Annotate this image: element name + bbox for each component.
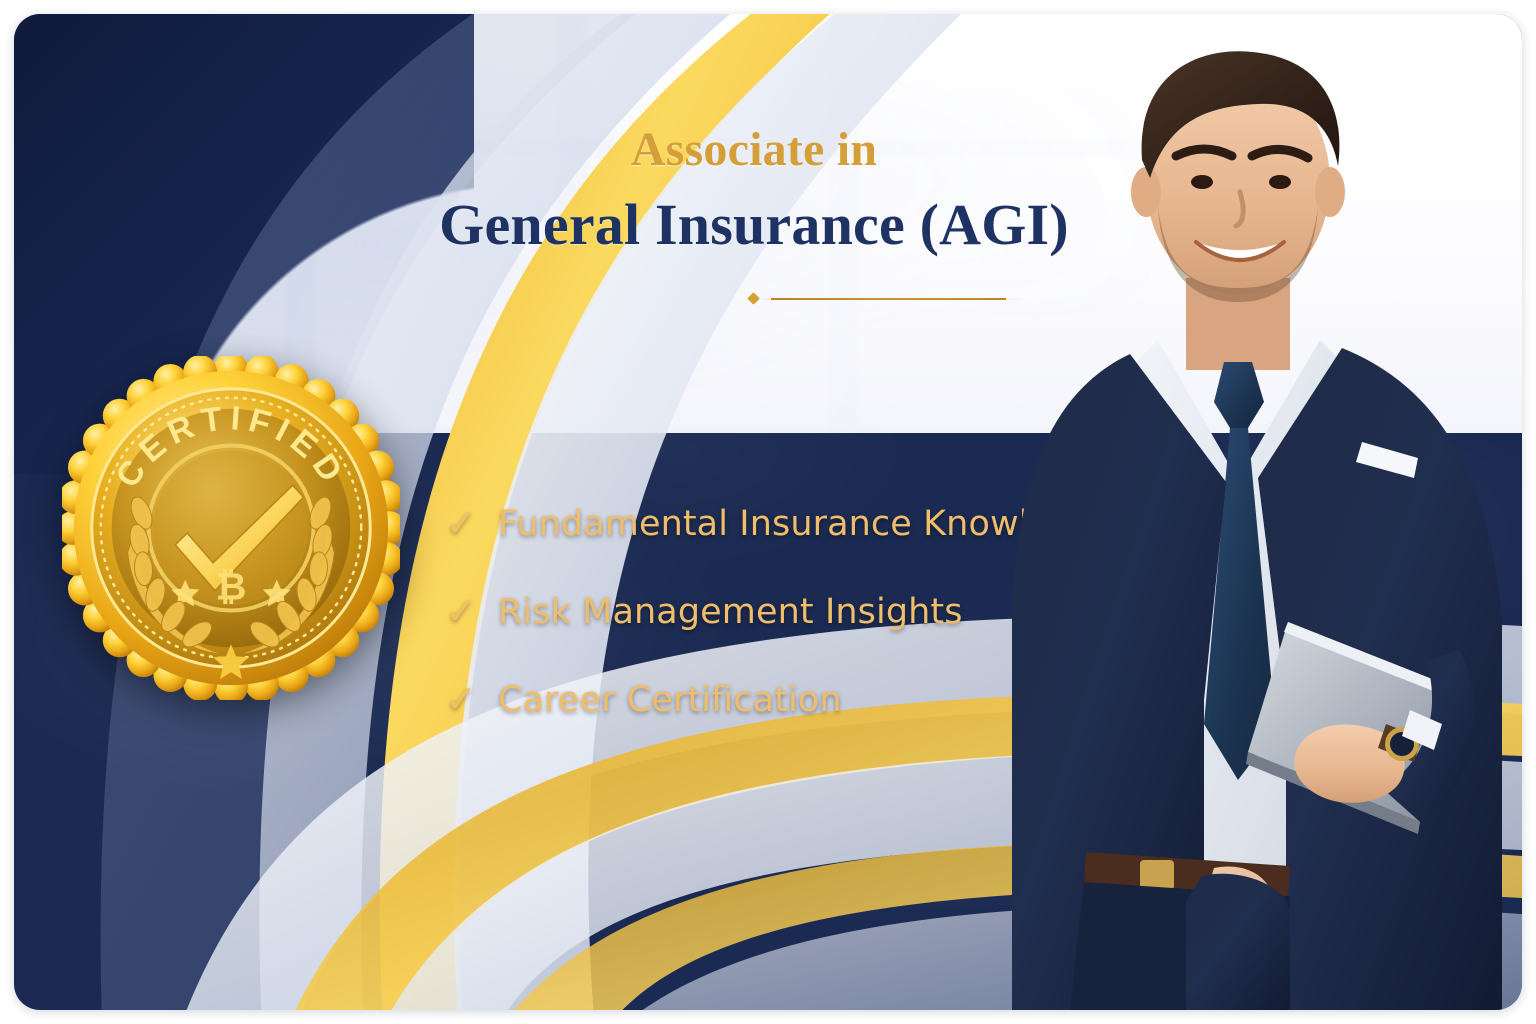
divider-diamond-icon xyxy=(747,292,760,305)
benefit-label: Risk Management Insights xyxy=(498,592,963,632)
bitcoin-icon: ₿ xyxy=(216,567,247,609)
ear xyxy=(1315,167,1345,217)
check-icon: ✓ xyxy=(444,505,478,543)
businessman-photo xyxy=(1002,14,1522,1010)
ear xyxy=(1131,167,1161,217)
certified-seal-svg: CERTIFIED ₿ xyxy=(62,356,400,700)
certification-banner: Associate in General Insurance (AGI) ✓ F… xyxy=(14,14,1522,1010)
eye xyxy=(1191,175,1213,189)
eye xyxy=(1269,175,1291,189)
businessman-svg xyxy=(1002,14,1522,1010)
benefit-label: Career Certification xyxy=(498,680,842,720)
diamond-divider-icon xyxy=(485,292,1023,306)
divider-line-right xyxy=(771,298,1023,300)
suit-front-panel xyxy=(1186,874,1290,1010)
check-icon: ✓ xyxy=(444,681,478,719)
check-icon: ✓ xyxy=(444,593,478,631)
certified-gold-seal: CERTIFIED ₿ xyxy=(62,356,400,700)
tie-knot xyxy=(1214,362,1264,428)
